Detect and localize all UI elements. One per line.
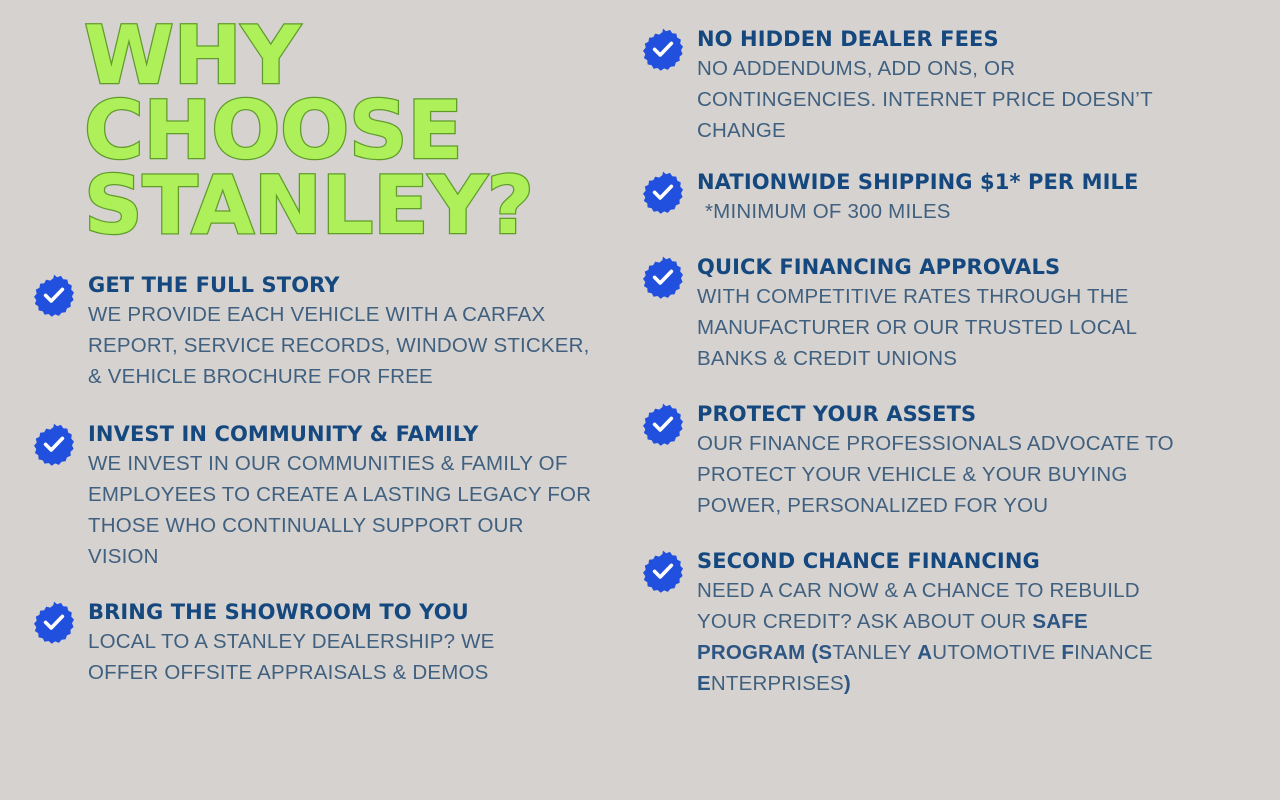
feature-description: WE INVEST IN OUR COMMUNITIES & FAMILY OF… [88,449,600,573]
feature-title: QUICK FINANCING APPROVALS [697,254,1280,280]
desc-bold-e: E [697,672,711,695]
feature-description: *MINIMUM OF 300 MILES [697,197,1280,228]
check-badge-icon [32,273,76,317]
feature-second-chance-financing: SECOND CHANCE FINANCING NEED A CAR NOW &… [625,548,1280,700]
feature-text-block: QUICK FINANCING APPROVALS WITH COMPETITI… [697,254,1280,375]
feature-text-block: BRING THE SHOWROOM TO YOU LOCAL TO A STA… [88,599,625,689]
feature-description: WE PROVIDE EACH VEHICLE WITH A CARFAX RE… [88,300,608,393]
check-badge-icon [641,549,685,593]
feature-get-the-full-story: GET THE FULL STORY WE PROVIDE EACH VEHIC… [0,272,625,393]
right-feature-list: NO HIDDEN DEALER FEES NO ADDENDUMS, ADD … [625,26,1280,700]
headline-line-3: STANLEY? [84,168,636,243]
feature-text-block: NO HIDDEN DEALER FEES NO ADDENDUMS, ADD … [697,26,1280,147]
desc-bold-f: F [1061,641,1074,664]
check-badge-icon [641,27,685,71]
feature-title: SECOND CHANCE FINANCING [697,548,1280,574]
feature-nationwide-shipping: NATIONWIDE SHIPPING $1* PER MILE *MINIMU… [625,169,1280,228]
feature-description: OUR FINANCE PROFESSIONALS ADVOCATE TO PR… [697,429,1209,522]
feature-invest-in-community-and-family: INVEST IN COMMUNITY & FAMILY WE INVEST I… [0,421,625,573]
desc-plain-inance: INANCE [1074,641,1153,664]
left-column: WHY CHOOSE STANLEY? GET THE FULL STORY W… [0,0,625,800]
feature-text-block: PROTECT YOUR ASSETS OUR FINANCE PROFESSI… [697,401,1280,522]
feature-text-block: SECOND CHANCE FINANCING NEED A CAR NOW &… [697,548,1280,700]
feature-text-block: INVEST IN COMMUNITY & FAMILY WE INVEST I… [88,421,625,573]
headline-block: WHY CHOOSE STANLEY? [0,0,625,272]
headline-line-2: CHOOSE [84,93,636,168]
feature-no-hidden-dealer-fees: NO HIDDEN DEALER FEES NO ADDENDUMS, ADD … [625,26,1280,147]
feature-title: NO HIDDEN DEALER FEES [697,26,1280,52]
desc-plain-nterprises: NTERPRISES [711,672,844,695]
feature-title: GET THE FULL STORY [88,272,625,298]
feature-description: WITH COMPETITIVE RATES THROUGH THE MANUF… [697,282,1203,375]
feature-title: BRING THE SHOWROOM TO YOU [88,599,625,625]
feature-text-block: NATIONWIDE SHIPPING $1* PER MILE *MINIMU… [697,169,1280,228]
desc-plain-utomotive: UTOMOTIVE [932,641,1061,664]
headline-line-1: WHY [84,18,636,93]
check-badge-icon [32,422,76,466]
check-badge-icon [641,255,685,299]
right-column: NO HIDDEN DEALER FEES NO ADDENDUMS, ADD … [625,0,1280,800]
feature-description: LOCAL TO A STANLEY DEALERSHIP? WE OFFER … [88,627,558,689]
feature-title: PROTECT YOUR ASSETS [697,401,1280,427]
feature-title: INVEST IN COMMUNITY & FAMILY [88,421,625,447]
feature-bring-the-showroom-to-you: BRING THE SHOWROOM TO YOU LOCAL TO A STA… [0,599,625,689]
check-badge-icon [32,600,76,644]
check-badge-icon [641,170,685,214]
feature-description-rich: NEED A CAR NOW & A CHANCE TO REBUILD YOU… [697,576,1197,700]
desc-plain-tanley: TANLEY [832,641,917,664]
feature-protect-your-assets: PROTECT YOUR ASSETS OUR FINANCE PROFESSI… [625,401,1280,522]
feature-text-block: GET THE FULL STORY WE PROVIDE EACH VEHIC… [88,272,625,393]
left-feature-list: GET THE FULL STORY WE PROVIDE EACH VEHIC… [0,272,625,689]
feature-title: NATIONWIDE SHIPPING $1* PER MILE [697,169,1159,195]
feature-quick-financing-approvals: QUICK FINANCING APPROVALS WITH COMPETITI… [625,254,1280,375]
why-choose-stanley-poster: WHY CHOOSE STANLEY? GET THE FULL STORY W… [0,0,1280,800]
desc-bold-a: A [917,641,932,664]
check-badge-icon [641,402,685,446]
feature-description: NO ADDENDUMS, ADD ONS, OR CONTINGENCIES.… [697,54,1167,147]
desc-bold-close-paren: ) [844,672,851,695]
